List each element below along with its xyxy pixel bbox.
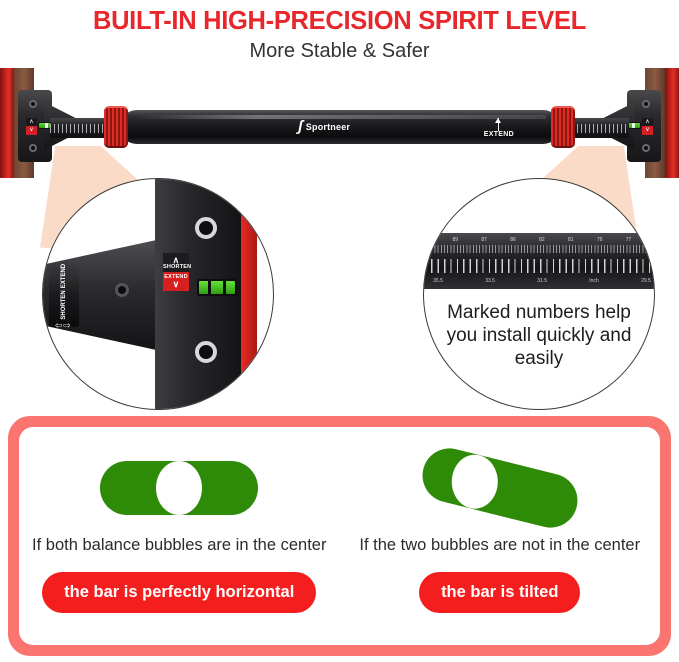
door-frame-red-left — [0, 68, 14, 178]
vial-bubble-icon — [452, 455, 498, 509]
shorten-extend-arrows-icon: ⇧ ⇩ — [57, 321, 72, 329]
extend-button: EXTEND ∨ — [163, 272, 189, 291]
level-vial-horizontal — [100, 461, 258, 515]
mount-bolt-icon — [642, 144, 650, 152]
zoom-adjust-buttons: ∧ SHORTEN EXTEND ∨ — [163, 253, 189, 291]
result-badge-tilted: the bar is tilted — [419, 572, 580, 613]
level-vial-tilted — [417, 443, 583, 534]
mount-bolt-icon — [29, 144, 37, 152]
extend-indicator: EXTEND — [484, 118, 514, 138]
page-subtitle: More Stable & Safer — [0, 38, 679, 64]
extend-label: EXTEND — [484, 131, 514, 138]
comparison-column-tilted: If the two bubbles are not in the center… — [340, 427, 661, 645]
mount-bolt-icon — [29, 100, 37, 108]
shorten-button: ∧ SHORTEN — [163, 253, 189, 272]
ruler-caption: Marked numbers help you install quickly … — [430, 301, 648, 370]
zoom-ruler: 91 89 87 86 82 81 79 77 75 35.5 33.5 31.… — [423, 233, 655, 289]
comparison-caption-right: If the two bubbles are not in the center — [359, 535, 640, 556]
zoom-screw-icon — [115, 283, 129, 297]
down-chevron-icon: ∨ — [163, 280, 189, 288]
ruler-numbers-upper: 91 89 87 86 82 81 79 77 75 — [423, 235, 655, 244]
page-title: BUILT-IN HIGH-PRECISION SPIRIT LEVEL — [0, 6, 679, 36]
result-badge-level: the bar is perfectly horizontal — [42, 572, 316, 613]
up-chevron-icon: ∧ — [163, 256, 189, 264]
extend-chevron-icon: ∨ — [642, 126, 653, 135]
mount-controls-right: ∧ ∨ — [642, 118, 653, 138]
comparison-caption-left: If both balance bubbles are in the cente… — [32, 535, 326, 556]
comparison-column-level: If both balance bubbles are in the cente… — [19, 427, 340, 645]
extend-chevron-icon: ∨ — [26, 126, 37, 135]
door-frame-red-right — [665, 68, 679, 178]
ruler-ticks-major — [423, 259, 655, 273]
brand-name: Sportneer — [306, 122, 350, 132]
adjust-collar-right — [551, 106, 575, 148]
shorten-label: SHORTEN — [163, 264, 191, 270]
shorten-chevron-icon: ∧ — [26, 118, 37, 126]
zoom-bolt-icon — [195, 341, 217, 363]
extend-arrow-icon — [498, 118, 499, 131]
collar-shorten-label: SHORTEN — [61, 290, 67, 319]
mount-bolt-icon — [642, 100, 650, 108]
ruler-ticks-minor — [423, 245, 655, 253]
adjust-collar-left — [104, 106, 128, 148]
vial-bubble-icon — [156, 461, 202, 515]
ruler-numbers-lower: 35.5 33.5 31.5 Inch 29.5 — [423, 276, 655, 285]
header: BUILT-IN HIGH-PRECISION SPIRIT LEVEL Mor… — [0, 0, 679, 64]
zoom-collar: ⇧ ⇩ SHORTEN EXTEND — [49, 265, 79, 327]
product-scene: ∧ ∨ ∧ ∨ ʃ Sportneer EX — [0, 68, 679, 410]
magnifier-circle-left: ∧ SHORTEN EXTEND ∨ ⇧ ⇩ SHORTEN EXTEND — [42, 178, 274, 410]
comparison-panel: If both balance bubbles are in the cente… — [8, 416, 671, 656]
pull-up-bar: ʃ Sportneer EXTEND — [120, 110, 560, 144]
vial-bubble-icon — [199, 281, 235, 294]
magnifier-circle-right: 91 89 87 86 82 81 79 77 75 35.5 33.5 31.… — [423, 178, 655, 410]
zoom-bolt-icon — [195, 217, 217, 239]
zoom-door-frame-strip — [241, 179, 257, 410]
mount-controls-left: ∧ ∨ — [26, 118, 37, 138]
brand-logo: ʃ Sportneer — [298, 121, 350, 133]
shorten-chevron-icon: ∧ — [642, 118, 653, 126]
collar-extend-label: EXTEND — [61, 263, 67, 287]
brand-mark-icon: ʃ — [298, 121, 303, 133]
zoom-spirit-level-vial — [197, 279, 237, 296]
